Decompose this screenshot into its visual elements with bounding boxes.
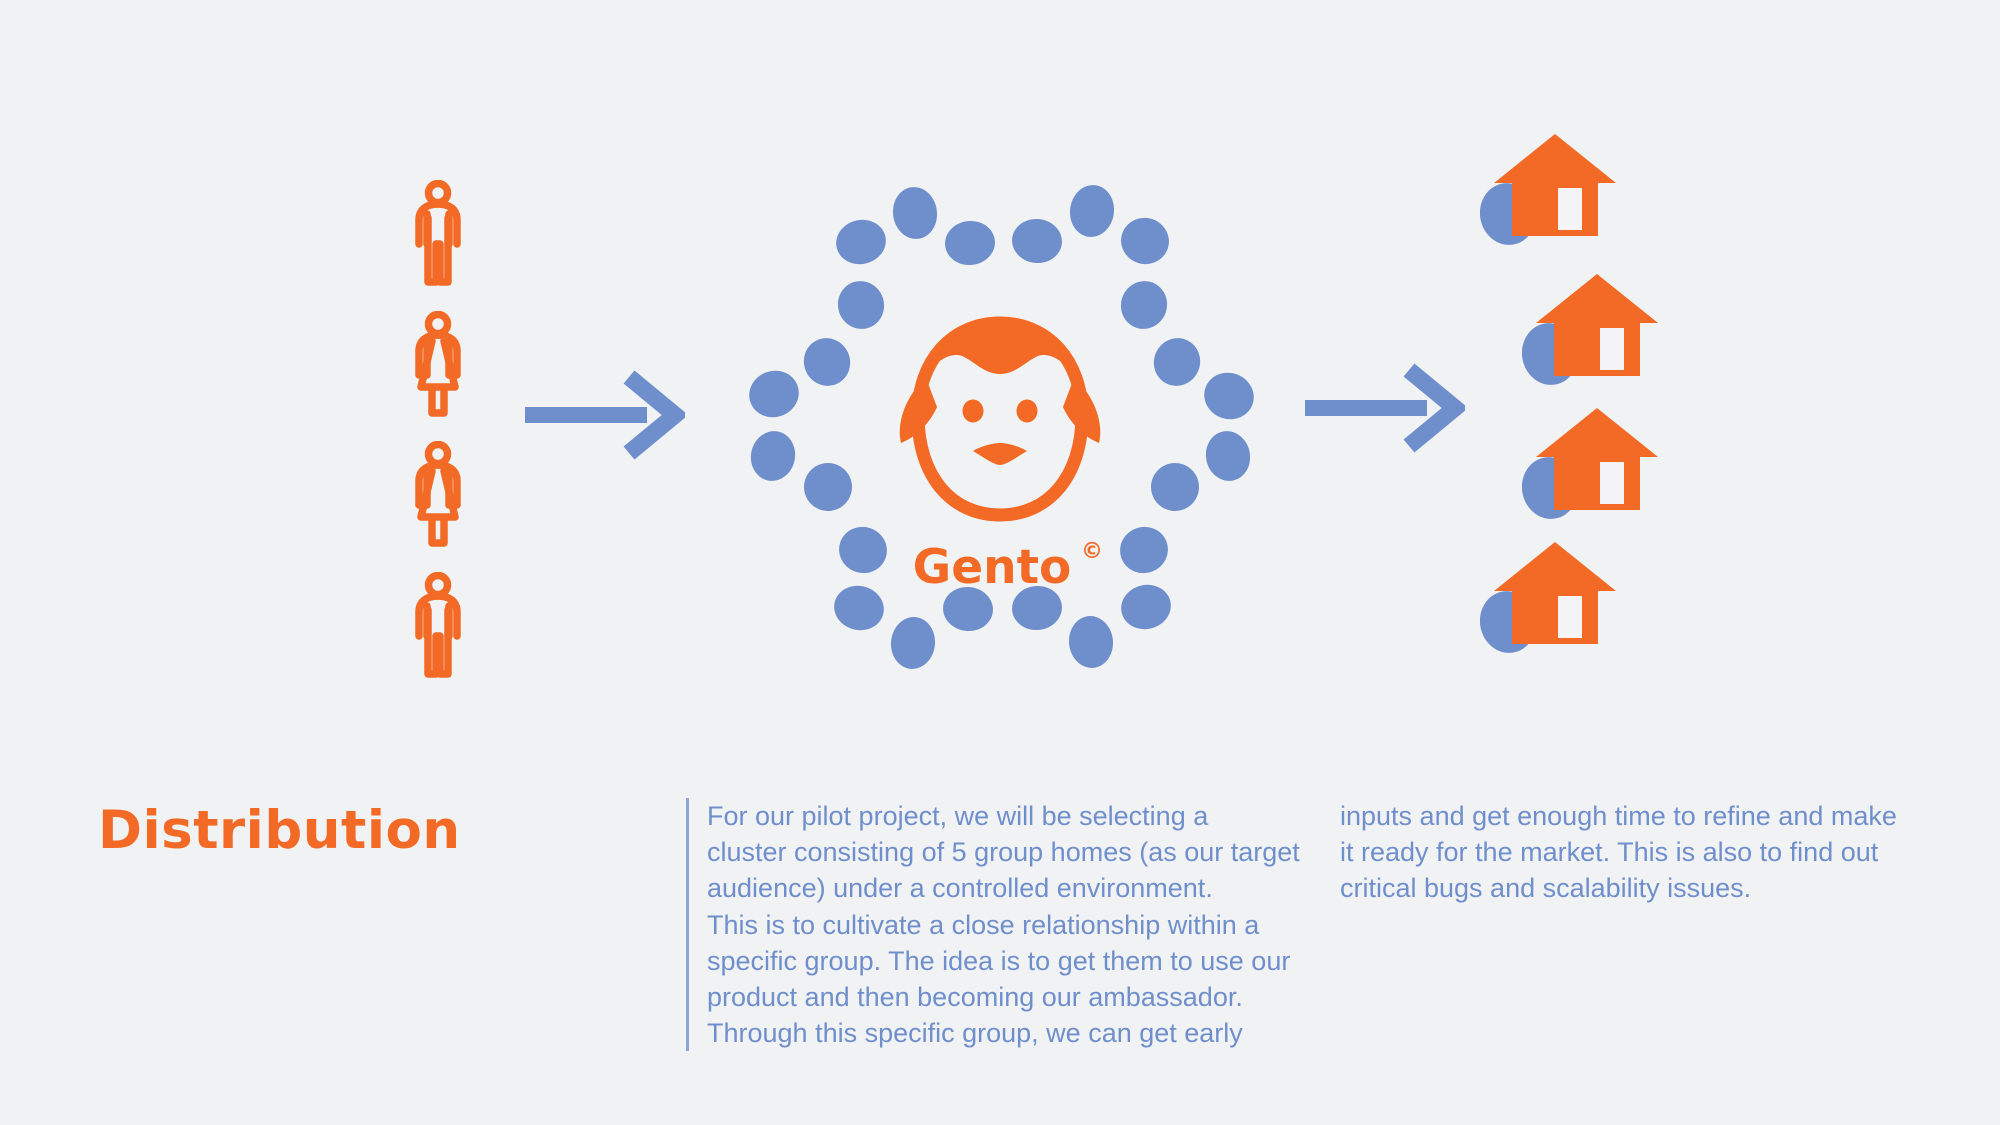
bottom-content: Distribution For our pilot project, we w… [0, 780, 2000, 1125]
house-icon [1494, 134, 1616, 236]
target-audience-people [380, 180, 495, 680]
brand-name: Gento [913, 540, 1072, 595]
house-door [1558, 188, 1582, 230]
house-icon [1494, 542, 1616, 644]
group-home-unit [1522, 268, 1672, 398]
group-homes [1480, 140, 1670, 700]
house-door [1558, 596, 1582, 638]
house-icon [1536, 274, 1658, 376]
person-female-icon [406, 311, 470, 419]
gento-wordmark: Gento © [913, 539, 1103, 595]
person-male-icon [406, 572, 470, 680]
house-door [1600, 328, 1624, 370]
page-title: Distribution [98, 800, 461, 861]
trademark-symbol: © [1081, 539, 1103, 564]
slide-root: Gento © [0, 0, 2000, 1125]
person-female-icon [406, 441, 470, 549]
group-home-unit [1480, 128, 1630, 258]
group-home-unit [1480, 536, 1630, 666]
gento-community-cluster: Gento © [730, 165, 1270, 695]
body-text-column-1: For our pilot project, we will be select… [686, 798, 1327, 1051]
house-icon [1536, 408, 1658, 510]
person-male-icon [406, 180, 470, 288]
community-dots [743, 182, 1261, 671]
flow-arrow-right-icon [525, 365, 685, 465]
flow-arrow-right-icon [1305, 358, 1465, 458]
group-home-unit [1522, 402, 1672, 532]
gento-penguin-mascot [900, 320, 1101, 515]
distribution-diagram: Gento © [0, 0, 2000, 740]
house-door [1600, 462, 1624, 504]
body-text-column-2: inputs and get enough time to refine and… [1340, 798, 1940, 907]
